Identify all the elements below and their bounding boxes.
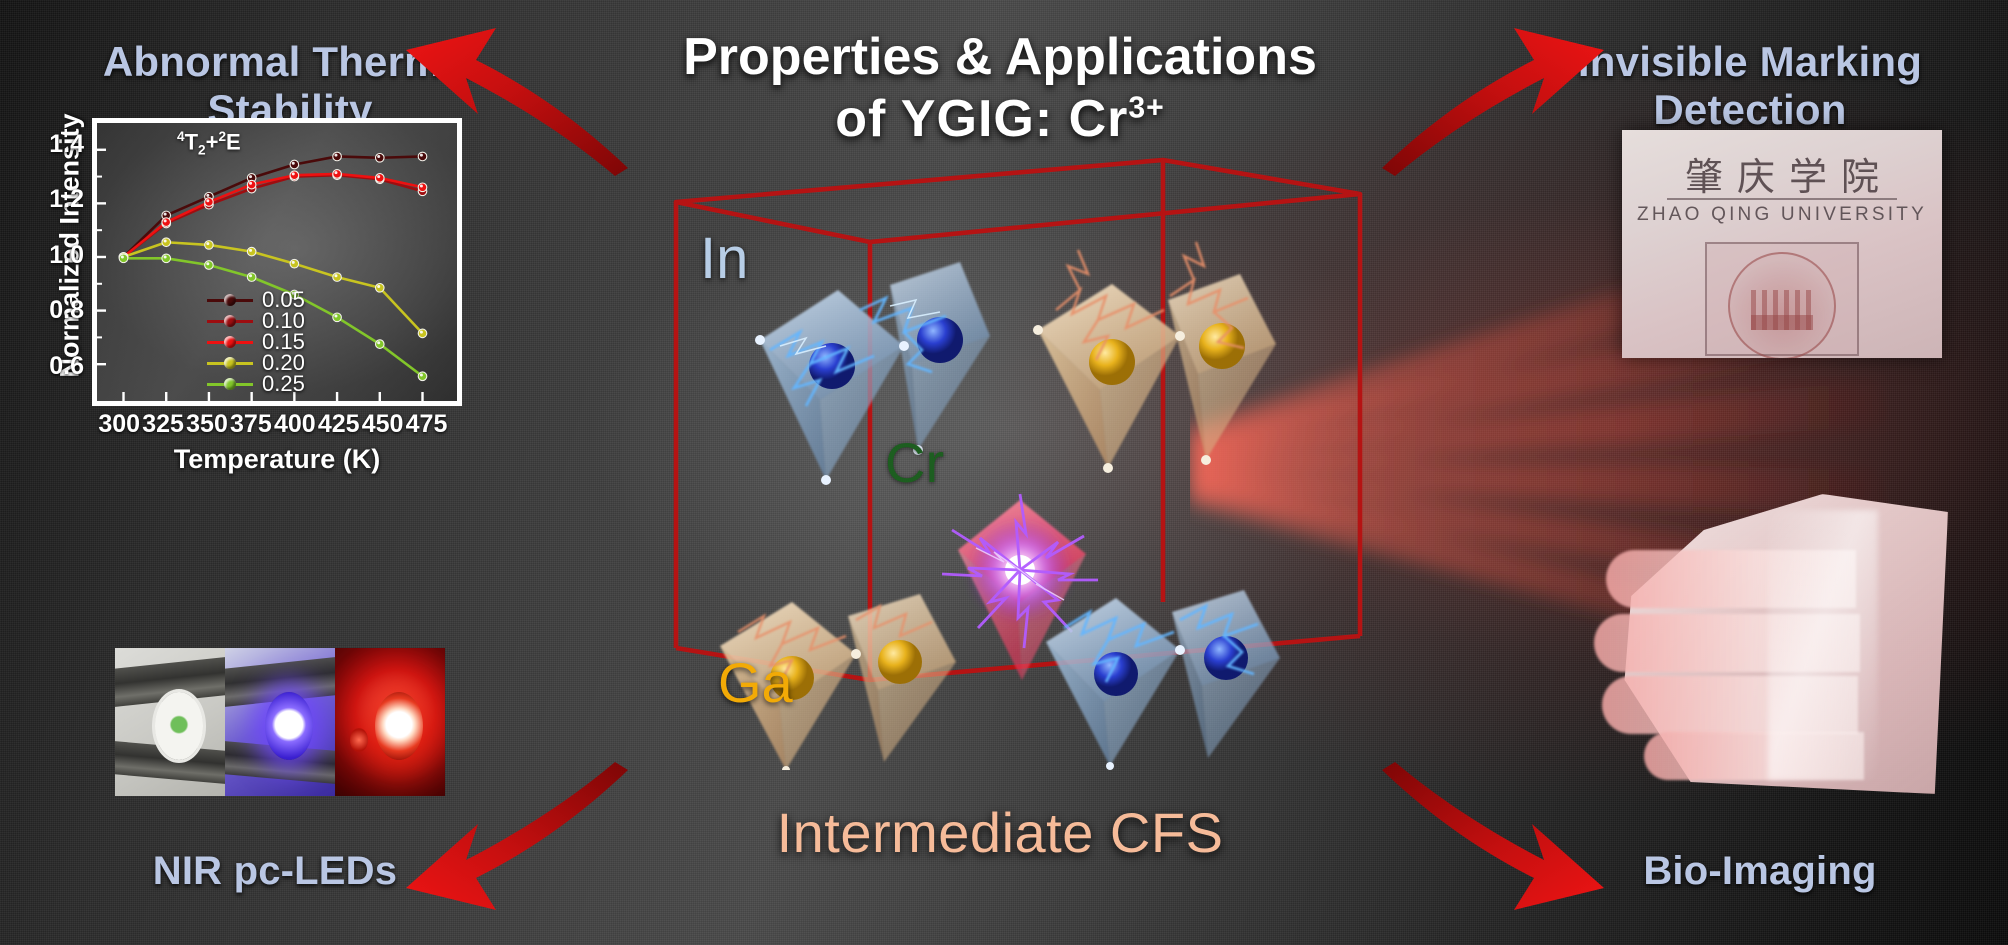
seal-building-icon — [1751, 290, 1813, 330]
led-blue-emission — [265, 692, 313, 760]
legend-swatch-icon — [207, 357, 253, 369]
thermal-stability-chart: 4T2+2E 0.05 0.10 0.15 0.20 — [22, 118, 462, 468]
divider-line — [1667, 198, 1897, 200]
arrow-top-left — [400, 18, 630, 178]
term-plus: + — [206, 129, 219, 154]
main-title-line2-text: of YGIG: Cr — [835, 90, 1128, 148]
term-sup-2: 2 — [218, 129, 226, 144]
term-sup-1: 4 — [177, 129, 185, 144]
label-chromium: Cr — [885, 430, 944, 495]
led-red-emission — [375, 692, 423, 760]
legend-swatch-icon — [207, 315, 253, 327]
university-name-chinese: 肇庆学院 — [1622, 146, 1942, 201]
specular-highlight — [1768, 510, 1878, 780]
y-tick-label: 1.4 — [22, 130, 84, 159]
legend-swatch-icon — [207, 336, 253, 348]
main-title-line2: of YGIG: Cr3+ — [620, 90, 1380, 148]
arrow-bottom-right — [1380, 760, 1610, 920]
label-gallium: Ga — [718, 650, 793, 715]
bio-imaging-photo — [1588, 480, 1968, 810]
led-glow-reflection — [350, 728, 368, 752]
led-unlit — [155, 692, 203, 760]
main-title-superscript: 3+ — [1128, 92, 1164, 125]
y-tick-label: 1.0 — [22, 241, 84, 270]
nir-pcled-photo-strip — [115, 648, 445, 796]
x-tick-label: 475 — [397, 410, 457, 439]
center-caption-intermediate-cfs: Intermediate CFS — [620, 800, 1380, 865]
arrow-top-right — [1380, 18, 1610, 178]
main-title-line1: Properties & Applications — [683, 28, 1317, 86]
legend-swatch-icon — [207, 294, 253, 306]
led-photo-off — [115, 648, 225, 796]
label-indium: In — [700, 225, 748, 292]
legend-row: 0.25 — [207, 373, 305, 394]
y-tick-label: 0.6 — [22, 352, 84, 381]
legend-swatch-icon — [207, 378, 253, 390]
led-photo-blue — [225, 648, 335, 796]
term-base-1: T — [185, 129, 198, 154]
led-photo-red — [335, 648, 445, 796]
y-tick-label: 0.8 — [22, 296, 84, 325]
chart-annotation-term: 4T2+2E — [177, 129, 241, 158]
term-sub-1: 2 — [198, 143, 206, 158]
y-tick-label: 1.2 — [22, 185, 84, 214]
invisible-marking-photo: 肇庆学院 ZHAO QING UNIVERSITY — [1622, 130, 1942, 358]
chart-x-axis-title: Temperature (K) — [92, 444, 462, 475]
chart-legend: 0.05 0.10 0.15 0.20 0.25 — [207, 289, 305, 394]
graphical-abstract: In Cr Ga Abnormal Thermal Stability Invi… — [0, 0, 2008, 945]
term-base-2: E — [226, 129, 241, 154]
university-name-english: ZHAO QING UNIVERSITY — [1622, 204, 1942, 226]
university-seal — [1705, 242, 1859, 356]
legend-label: 0.25 — [262, 371, 305, 397]
main-title: Properties & Applications of YGIG: Cr3+ — [620, 28, 1380, 148]
